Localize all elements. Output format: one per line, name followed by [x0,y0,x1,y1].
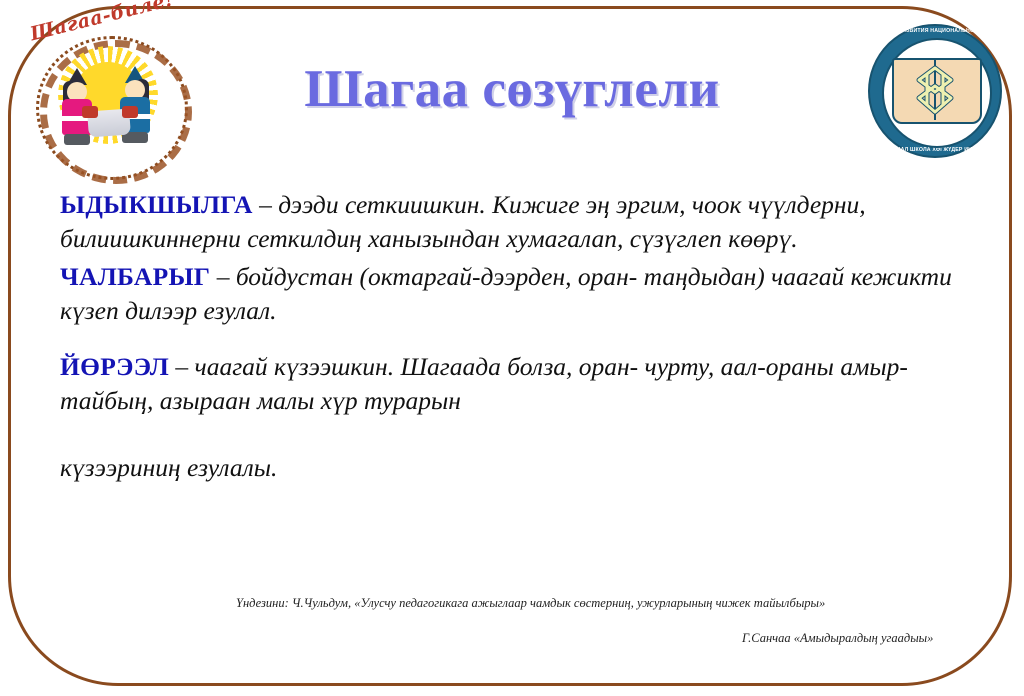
definition-entry-2: ЧАЛБАРЫГ – бойдустан (октаргай-дээрден, … [60,260,968,328]
slide-canvas: Шагаа-биле! ИНСТИТУТ РАЗВИТИЯ НАЦИОНАЛЬН… [0,0,1024,696]
definition-entry-1: ЫДЫКШЫЛГА – дээди сеткиишкин. Кижиге эң … [60,188,968,256]
definitions-body: ЫДЫКШЫЛГА – дээди сеткиишкин. Кижиге эң … [60,188,968,495]
term-dash-3: – [169,352,195,381]
definition-line-2-1: бойдустан (октаргай-дээрден, оран- [236,262,637,291]
term-label-3: ЙӨРЭЭЛ [60,352,169,381]
term-dash-2: – [210,262,236,291]
institute-caption-tuvan: НАЦИОНАЛ ШКОЛА ХӨГЖҮДЕР ИНСТИТУТ [868,148,1002,153]
term-label-2: ЧАЛБАРЫГ [60,262,210,291]
source-citation-secondary: Г.Санчаа «Амыдыралдың угаадыы» [742,631,933,646]
definition-entry-3: ЙӨРЭЭЛ – чаагай күзээшкин. Шагаада болза… [60,350,968,486]
girl-boots-icon [64,134,90,145]
definition-line-3-3: күзээриниң езулалы. [60,453,277,482]
definition-line-1-1: дээди сеткиишкин. Кижиге эң эргим, чоок [278,190,741,219]
term-label-1: ЫДЫКШЫЛГА [60,190,253,219]
institute-caption-russian: ИНСТИТУТ РАЗВИТИЯ НАЦИОНАЛЬНОЙ ШКОЛЫ [868,29,1002,34]
definition-line-3-1: чаагай күзээшкин. Шагаада болза, оран- ч… [195,352,715,381]
definition-line-1-3: сүзүглеп көөрү. [630,224,798,253]
source-citation-primary: Үндезини: Ч.Чульдум, «Улусчу педагогикаг… [236,596,825,611]
page-title: Шагаа сөзүглели [0,62,1024,118]
term-dash-1: – [253,190,279,219]
